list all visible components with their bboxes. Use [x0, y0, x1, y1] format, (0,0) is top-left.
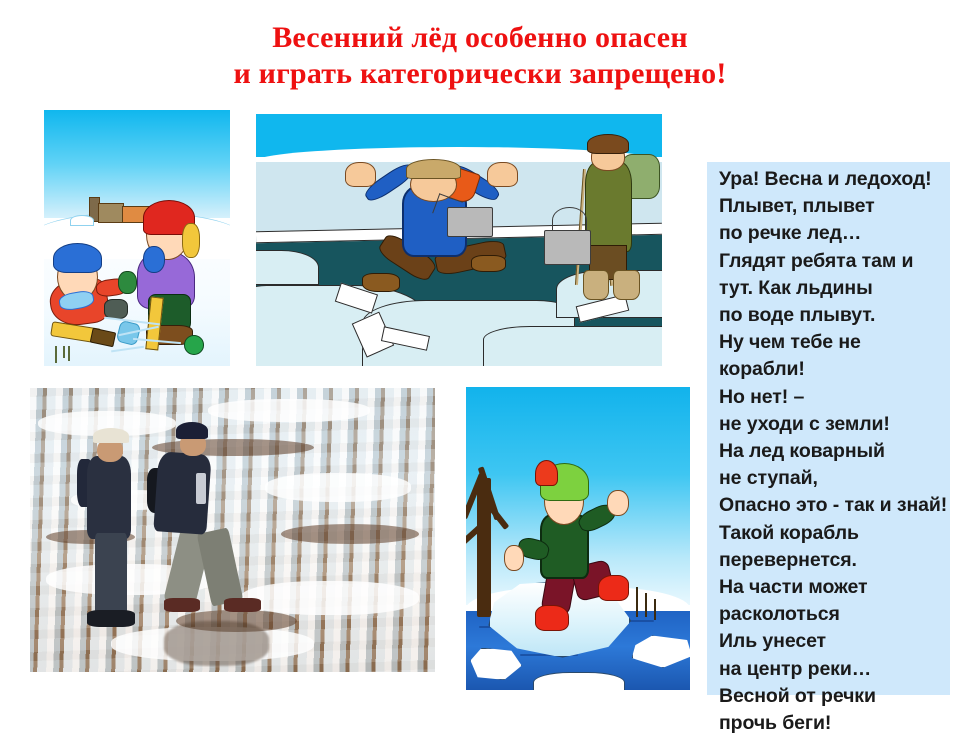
- hand-icon: [487, 162, 517, 187]
- red-shoe-icon: [598, 575, 629, 601]
- mitten-icon: [143, 246, 165, 274]
- boot-icon: [471, 255, 505, 272]
- reed: [645, 593, 647, 617]
- poem-line: Весной от речки: [719, 683, 950, 710]
- grass-blade: [68, 346, 70, 361]
- boot-icon: [362, 273, 401, 293]
- poem-line: перевернется.: [719, 547, 950, 574]
- ice-slab: [265, 473, 411, 501]
- poem-line: Ну чем тебе не: [719, 329, 950, 356]
- ice-slab: [208, 399, 370, 422]
- tackle-box-icon: [447, 207, 494, 237]
- poem-panel: Ура! Весна и ледоход! Плывет, плывет по …: [707, 162, 950, 695]
- reed: [636, 587, 638, 617]
- hat-pompom: [535, 460, 557, 486]
- poem-line: Иль унесет: [719, 628, 950, 655]
- title-line-2: и играть категорически запрещено!: [0, 56, 960, 92]
- hand-icon: [345, 162, 375, 187]
- poem-line: тут. Как льдины: [719, 275, 950, 302]
- mitten-icon: [118, 271, 137, 293]
- poem-line: прочь беги!: [719, 710, 950, 737]
- teen-trousers: [95, 533, 127, 615]
- boot-icon: [613, 270, 639, 300]
- building-icon: [98, 203, 124, 223]
- page-title: Весенний лёд особенно опасен и играть ка…: [0, 20, 960, 92]
- bare-tree-icon: [477, 478, 490, 617]
- cap-icon: [406, 159, 461, 179]
- jacket-stripe: [196, 473, 206, 504]
- poem-line: корабли!: [719, 356, 950, 383]
- illustration-boy-jumping-over-ice-gap: [256, 114, 662, 366]
- baseball-cap-icon: [93, 428, 129, 444]
- poem-line: по воде плывут.: [719, 302, 950, 329]
- illustration-boy-balancing-on-drifting-ice-floe: [466, 387, 690, 690]
- boot-icon: [164, 598, 200, 612]
- poem-line: Глядят ребята там и: [719, 248, 950, 275]
- boot-icon: [583, 270, 609, 300]
- ice-floe: [256, 250, 319, 285]
- poem-line: Опасно это - так и знай!: [719, 492, 950, 519]
- tackle-box-icon: [544, 230, 591, 265]
- grass-blade: [63, 346, 65, 359]
- hand-icon: [504, 545, 524, 571]
- ice-floe: [483, 326, 662, 366]
- red-shoe-icon: [535, 605, 568, 631]
- title-line-1: Весенний лёд особенно опасен: [0, 20, 960, 56]
- photo-two-teenagers-on-broken-river-ice: [30, 388, 435, 672]
- poem-line: не ступай,: [719, 465, 950, 492]
- snow-mound: [70, 215, 94, 226]
- poem-line: На части может: [719, 574, 950, 601]
- poem-line: расколоться: [719, 601, 950, 628]
- poem-line: Плывет, плывет: [719, 193, 950, 220]
- beanie-icon: [176, 422, 208, 439]
- poem-line: по речке лед…: [719, 220, 950, 247]
- reed: [654, 599, 656, 620]
- boot-icon: [224, 598, 260, 612]
- safety-poster: Весенний лёд особенно опасен и играть ка…: [0, 0, 960, 720]
- boot-icon: [87, 610, 136, 627]
- poem-line: На лед коварный: [719, 438, 950, 465]
- fur-hat-icon: [587, 134, 630, 154]
- poem-line: Такой корабль: [719, 520, 950, 547]
- blue-hat-icon: [53, 243, 102, 273]
- ice-floe: [533, 672, 625, 690]
- teen-dark-jacket: [87, 456, 132, 538]
- poem-line: на центр реки…: [719, 656, 950, 683]
- hair: [182, 223, 201, 258]
- poem-text: Ура! Весна и ледоход! Плывет, плывет по …: [707, 162, 950, 737]
- illustration-children-playing-hockey-on-cracking-ice: [44, 110, 230, 366]
- ball-icon: [184, 335, 205, 355]
- grass-blade: [55, 346, 57, 364]
- poem-line: не уходи с земли!: [719, 411, 950, 438]
- poem-line: Но нет! –: [719, 384, 950, 411]
- poem-line: Ура! Весна и ледоход!: [719, 166, 950, 193]
- ice-slab: [241, 581, 419, 615]
- hand-icon: [607, 490, 629, 516]
- fisherman-coat: [585, 162, 632, 252]
- water-reflection: [164, 621, 269, 666]
